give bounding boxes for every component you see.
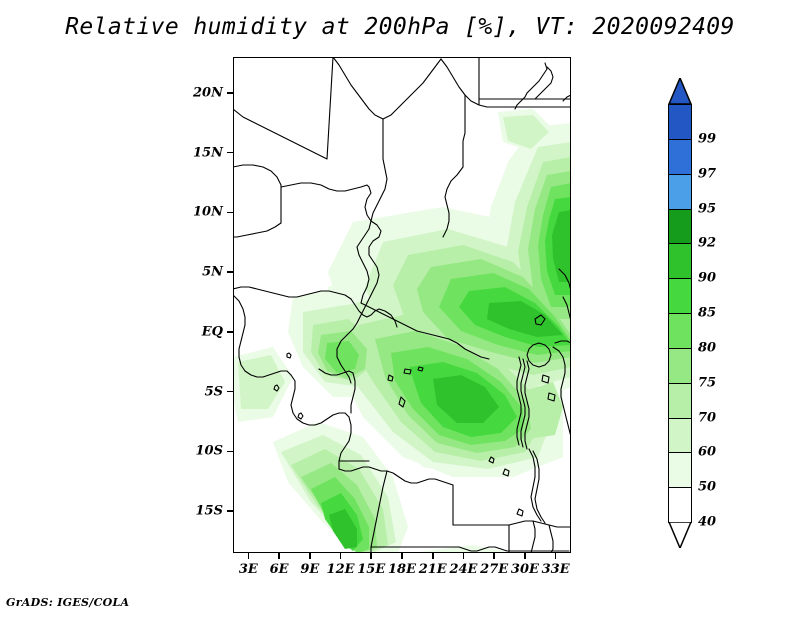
- colorbar-tick-label: 99: [698, 131, 716, 146]
- x-tick: [524, 553, 526, 559]
- x-tick: [370, 553, 372, 559]
- colorbar-tick-label: 70: [698, 410, 716, 425]
- x-tick: [278, 553, 280, 559]
- y-tick: [227, 212, 233, 214]
- x-tick: [340, 553, 342, 559]
- colorbar-tick-label: 50: [698, 480, 716, 495]
- colorbar-tick-label: 97: [698, 166, 716, 181]
- y-tick-label: 20N: [185, 85, 223, 100]
- colorbar-tick-label: 95: [698, 201, 716, 216]
- x-tick-label: 9E: [300, 562, 319, 577]
- x-tick: [248, 553, 250, 559]
- x-tick-label: 15E: [357, 562, 385, 577]
- x-tick: [555, 553, 557, 559]
- colorbar-tick-label: 85: [698, 306, 716, 321]
- x-tick-label: 27E: [480, 562, 508, 577]
- y-tick: [227, 391, 233, 393]
- x-tick-label: 3E: [239, 562, 258, 577]
- colorbar-segment[interactable]: [668, 243, 692, 279]
- colorbar-segment[interactable]: [668, 104, 692, 140]
- colorbar-tick-label: 92: [698, 236, 716, 251]
- colorbar[interactable]: 999795929085807570605040: [668, 78, 692, 548]
- x-tick-label: 30E: [511, 562, 539, 577]
- colorbar-tick-label: 40: [698, 515, 716, 530]
- y-tick: [227, 331, 233, 333]
- colorbar-max-arrow: [668, 78, 692, 104]
- y-tick: [227, 152, 233, 154]
- y-tick: [227, 510, 233, 512]
- y-tick-label: EQ: [185, 324, 223, 339]
- y-tick-label: 10S: [185, 444, 223, 459]
- x-tick-label: 12E: [327, 562, 355, 577]
- x-tick: [309, 553, 311, 559]
- y-tick-label: 5N: [185, 265, 223, 280]
- x-tick-label: 33E: [542, 562, 570, 577]
- x-tick: [463, 553, 465, 559]
- y-tick-label: 10N: [185, 205, 223, 220]
- x-tick: [401, 553, 403, 559]
- y-tick: [227, 271, 233, 273]
- colorbar-tick-label: 75: [698, 375, 716, 390]
- colorbar-tick-label: 60: [698, 445, 716, 460]
- colorbar-segment[interactable]: [668, 383, 692, 419]
- y-tick-label: 15N: [185, 145, 223, 160]
- colorbar-tick-label: 90: [698, 271, 716, 286]
- x-tick-label: 21E: [419, 562, 447, 577]
- colorbar-segment[interactable]: [668, 174, 692, 210]
- colorbar-segment[interactable]: [668, 313, 692, 349]
- colorbar-segment[interactable]: [668, 418, 692, 454]
- map-plot-area: [233, 57, 571, 553]
- colorbar-segment[interactable]: [668, 139, 692, 175]
- colorbar-segment[interactable]: [668, 278, 692, 314]
- x-tick: [432, 553, 434, 559]
- colorbar-tick-label: 80: [698, 340, 716, 355]
- y-tick: [227, 92, 233, 94]
- x-tick-label: 6E: [270, 562, 289, 577]
- x-tick-label: 24E: [449, 562, 477, 577]
- grads-attribution: GrADS: IGES/COLA: [6, 596, 129, 609]
- x-tick: [493, 553, 495, 559]
- colorbar-segment[interactable]: [668, 348, 692, 384]
- y-tick-label: 5S: [185, 384, 223, 399]
- colorbar-segment[interactable]: [668, 487, 692, 523]
- x-tick-label: 18E: [388, 562, 416, 577]
- page-title: Relative humidity at 200hPa [%], VT: 202…: [0, 14, 800, 40]
- colorbar-segment[interactable]: [668, 452, 692, 488]
- plot-frame: [233, 57, 571, 553]
- colorbar-segment[interactable]: [668, 209, 692, 245]
- y-tick: [227, 451, 233, 453]
- y-tick-label: 15S: [185, 504, 223, 519]
- colorbar-min-arrow: [668, 522, 692, 548]
